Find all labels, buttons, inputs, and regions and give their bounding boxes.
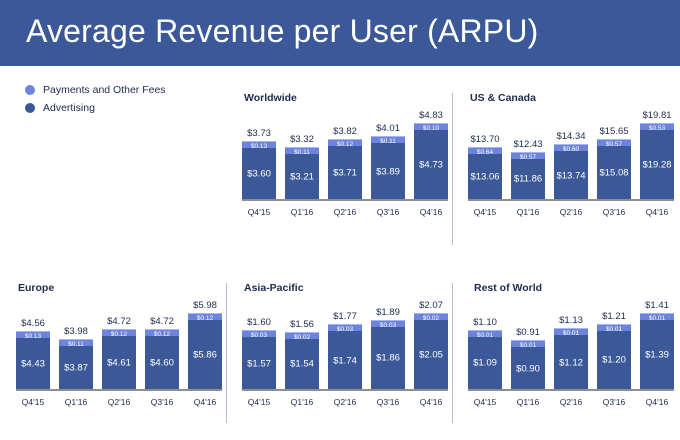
bar-segment-label: $1.86 xyxy=(371,354,405,364)
plot-area: $4.56$0.13$4.43$3.98$0.11$3.87$4.72$0.12… xyxy=(16,300,222,390)
bar-segment-advertising: $5.86 xyxy=(188,320,222,390)
bar-total-label: $3.73 xyxy=(247,128,271,139)
bar-segment-payments: $0.02 xyxy=(285,332,319,339)
bar-segment-payments: $0.11 xyxy=(59,339,93,346)
bar-segment-advertising: $2.05 xyxy=(414,320,448,390)
x-axis-tick-label: Q4'16 xyxy=(414,397,448,407)
bar-segment-advertising: $1.74 xyxy=(328,331,362,390)
axis-baseline xyxy=(468,389,674,391)
x-axis-tick-label: Q3'16 xyxy=(597,397,631,407)
bar-column: $0.91$0.01$0.90 xyxy=(511,300,545,390)
bar-segment-payments: $0.57 xyxy=(511,152,545,159)
bar-column: $3.73$0.13$3.60 xyxy=(242,110,276,200)
bar-segment-label: $3.71 xyxy=(328,168,362,178)
stacked-bar: $0.02$1.54 xyxy=(285,332,319,390)
bar-total-label: $4.72 xyxy=(107,316,131,327)
stacked-bar: $0.57$11.86 xyxy=(511,152,545,200)
x-axis-tick-label: Q4'15 xyxy=(468,397,502,407)
bar-segment-payments: $0.13 xyxy=(16,331,50,338)
circle-icon xyxy=(25,85,35,95)
bar-segment-payments: $0.12 xyxy=(102,329,136,336)
bar-segment-label: $1.74 xyxy=(328,356,362,366)
x-axis-tick-label: Q4'15 xyxy=(16,397,50,407)
bar-column: $12.43$0.57$11.86 xyxy=(511,110,545,200)
page-title: Average Revenue per User (ARPU) xyxy=(26,13,539,50)
bar-segment-label: $3.60 xyxy=(242,169,276,179)
bar-total-label: $1.41 xyxy=(645,300,669,311)
bar-segment-advertising: $4.61 xyxy=(102,336,136,390)
x-axis-tick-label: Q4'15 xyxy=(468,207,502,217)
x-axis: Q4'15Q1'16Q2'16Q3'16Q4'16 xyxy=(468,202,674,222)
bar-column: $4.83$0.10$4.73 xyxy=(414,110,448,200)
stacked-bar: $0.53$19.28 xyxy=(640,123,674,200)
x-axis-tick-label: Q2'16 xyxy=(328,397,362,407)
bar-segment-advertising: $1.86 xyxy=(371,327,405,390)
bar-column: $1.77$0.03$1.74 xyxy=(328,300,362,390)
bar-segment-payments: $0.03 xyxy=(371,320,405,327)
stacked-bar: $0.12$4.60 xyxy=(145,329,179,390)
bar-segment-payments: $0.01 xyxy=(511,340,545,347)
bar-total-label: $19.81 xyxy=(642,110,671,121)
bar-segment-advertising: $0.90 xyxy=(511,347,545,390)
bar-segment-label: $1.39 xyxy=(640,350,674,360)
bar-column: $4.56$0.13$4.43 xyxy=(16,300,50,390)
plot-area: $1.60$0.03$1.57$1.56$0.02$1.54$1.77$0.03… xyxy=(242,300,448,390)
x-axis-tick-label: Q2'16 xyxy=(102,397,136,407)
chart-panel-asia-pacific: Asia-Pacific $1.60$0.03$1.57$1.56$0.02$1… xyxy=(236,282,452,440)
bar-column: $4.72$0.12$4.60 xyxy=(145,300,179,390)
bar-segment-payments: $0.10 xyxy=(414,123,448,130)
bar-segment-advertising: $1.54 xyxy=(285,339,319,390)
bar-total-label: $4.56 xyxy=(21,318,45,329)
bar-segment-label: $1.57 xyxy=(242,359,276,369)
bar-column: $3.32$0.11$3.21 xyxy=(285,110,319,200)
bar-segment-payments: $0.64 xyxy=(468,147,502,154)
bar-column: $1.10$0.01$1.09 xyxy=(468,300,502,390)
bar-column: $13.70$0.64$13.06 xyxy=(468,110,502,200)
bar-column: $1.13$0.01$1.12 xyxy=(554,300,588,390)
bar-segment-advertising: $3.71 xyxy=(328,146,362,200)
bar-segment-advertising: $1.12 xyxy=(554,335,588,390)
x-axis-tick-label: Q4'16 xyxy=(188,397,222,407)
legend-item-advertising: Advertising xyxy=(25,100,225,115)
slide-header-band: Average Revenue per User (ARPU) xyxy=(0,0,680,66)
bar-segment-payments: $0.01 xyxy=(597,324,631,331)
bar-column: $15.65$0.57$15.08 xyxy=(597,110,631,200)
axis-baseline xyxy=(16,389,222,391)
bar-column: $3.82$0.12$3.71 xyxy=(328,110,362,200)
x-axis-tick-label: Q3'16 xyxy=(371,397,405,407)
stacked-bar: $0.12$3.71 xyxy=(328,139,362,200)
stacked-bar: $0.11$3.87 xyxy=(59,339,93,390)
x-axis-tick-label: Q2'16 xyxy=(328,207,362,217)
chart-panel-europe: Europe $4.56$0.13$4.43$3.98$0.11$3.87$4.… xyxy=(10,282,226,440)
bar-total-label: $1.21 xyxy=(602,311,626,322)
panel-title: Rest of World xyxy=(474,282,542,294)
circle-icon xyxy=(25,103,35,113)
bar-segment-label: $3.89 xyxy=(371,167,405,177)
bar-segment-payments: $0.60 xyxy=(554,144,588,151)
bar-segment-label: $0.90 xyxy=(511,364,545,374)
bar-segment-payments: $0.12 xyxy=(328,139,362,146)
chart-legend: Payments and Other Fees Advertising xyxy=(25,82,225,118)
bar-segment-label: $1.09 xyxy=(468,359,502,369)
bar-column: $3.98$0.11$3.87 xyxy=(59,300,93,390)
slide-canvas: Average Revenue per User (ARPU) Payments… xyxy=(0,0,680,434)
bar-total-label: $1.10 xyxy=(473,317,497,328)
bar-total-label: $3.98 xyxy=(64,326,88,337)
bar-segment-payments: $0.53 xyxy=(640,123,674,130)
bar-segment-advertising: $3.21 xyxy=(285,154,319,200)
stacked-bar: $0.12$4.61 xyxy=(102,329,136,390)
legend-item-payments: Payments and Other Fees xyxy=(25,82,225,97)
bar-segment-label: $1.20 xyxy=(597,356,631,366)
bar-total-label: $1.13 xyxy=(559,315,583,326)
plot-area: $3.73$0.13$3.60$3.32$0.11$3.21$3.82$0.12… xyxy=(242,110,448,200)
stacked-bar: $0.03$1.74 xyxy=(328,324,362,390)
panel-divider xyxy=(452,283,453,423)
bar-segment-payments: $0.03 xyxy=(328,324,362,331)
bar-segment-payments: $0.01 xyxy=(468,330,502,337)
bar-column: $1.89$0.03$1.86 xyxy=(371,300,405,390)
plot-area: $1.10$0.01$1.09$0.91$0.01$0.90$1.13$0.01… xyxy=(468,300,674,390)
bar-segment-payments: $0.02 xyxy=(414,313,448,320)
bar-column: $1.41$0.01$1.39 xyxy=(640,300,674,390)
stacked-bar: $0.02$2.05 xyxy=(414,313,448,390)
axis-baseline xyxy=(242,199,448,201)
bar-segment-payments: $0.57 xyxy=(597,139,631,146)
x-axis: Q4'15Q1'16Q2'16Q3'16Q4'16 xyxy=(16,392,222,412)
bar-total-label: $1.77 xyxy=(333,311,357,322)
bar-segment-advertising: $4.60 xyxy=(145,336,179,390)
legend-item-label: Advertising xyxy=(43,102,95,114)
x-axis-tick-label: Q4'16 xyxy=(414,207,448,217)
bar-segment-advertising: $13.74 xyxy=(554,151,588,200)
bar-segment-advertising: $1.57 xyxy=(242,337,276,390)
stacked-bar: $0.01$1.09 xyxy=(468,330,502,390)
bar-column: $4.01$0.11$3.89 xyxy=(371,110,405,200)
bar-total-label: $1.89 xyxy=(376,307,400,318)
stacked-bar: $0.11$3.89 xyxy=(371,136,405,200)
chart-panel-worldwide: Worldwide $3.73$0.13$3.60$3.32$0.11$3.21… xyxy=(236,92,452,250)
stacked-bar: $0.12$5.86 xyxy=(188,313,222,390)
bar-segment-advertising: $15.08 xyxy=(597,146,631,200)
bar-total-label: $5.98 xyxy=(193,300,217,311)
bar-segment-payments: $0.03 xyxy=(242,330,276,337)
stacked-bar: $0.60$13.74 xyxy=(554,144,588,200)
bar-total-label: $1.60 xyxy=(247,317,271,328)
x-axis-tick-label: Q3'16 xyxy=(145,397,179,407)
panel-title: Worldwide xyxy=(244,92,297,104)
x-axis-tick-label: Q3'16 xyxy=(597,207,631,217)
bar-total-label: $4.83 xyxy=(419,110,443,121)
stacked-bar: $0.03$1.86 xyxy=(371,320,405,390)
bar-total-label: $4.72 xyxy=(150,316,174,327)
bar-total-label: $0.91 xyxy=(516,327,540,338)
bar-total-label: $14.34 xyxy=(556,131,585,142)
chart-panel-rest-of-world: Rest of World $1.10$0.01$1.09$0.91$0.01$… xyxy=(462,282,678,440)
bar-chart: $1.10$0.01$1.09$0.91$0.01$0.90$1.13$0.01… xyxy=(468,300,674,412)
x-axis-tick-label: Q1'16 xyxy=(511,397,545,407)
x-axis-tick-label: Q4'16 xyxy=(640,207,674,217)
plot-area: $13.70$0.64$13.06$12.43$0.57$11.86$14.34… xyxy=(468,110,674,200)
axis-baseline xyxy=(468,199,674,201)
bar-segment-advertising: $19.28 xyxy=(640,130,674,200)
bar-segment-label: $1.54 xyxy=(285,360,319,370)
stacked-bar: $0.01$0.90 xyxy=(511,340,545,390)
bar-total-label: $2.07 xyxy=(419,300,443,311)
bar-segment-label: $4.73 xyxy=(414,160,448,170)
x-axis-tick-label: Q1'16 xyxy=(285,397,319,407)
bar-segment-label: $15.08 xyxy=(597,168,631,178)
bar-total-label: $3.32 xyxy=(290,134,314,145)
bar-segment-label: $19.28 xyxy=(640,160,674,170)
bar-segment-label: $13.74 xyxy=(554,171,588,181)
x-axis: Q4'15Q1'16Q2'16Q3'16Q4'16 xyxy=(242,202,448,222)
x-axis-tick-label: Q1'16 xyxy=(285,207,319,217)
bar-segment-payments: $0.11 xyxy=(371,136,405,143)
axis-baseline xyxy=(242,389,448,391)
panel-divider xyxy=(452,93,453,245)
stacked-bar: $0.01$1.39 xyxy=(640,313,674,390)
x-axis-tick-label: Q1'16 xyxy=(511,207,545,217)
bar-segment-label: $4.61 xyxy=(102,358,136,368)
x-axis-tick-label: Q1'16 xyxy=(59,397,93,407)
panel-divider xyxy=(226,283,227,423)
bar-total-label: $3.82 xyxy=(333,126,357,137)
panel-title: Europe xyxy=(18,282,54,294)
bar-segment-label: $3.21 xyxy=(285,172,319,182)
x-axis-tick-label: Q4'15 xyxy=(242,397,276,407)
bar-segment-label: $11.86 xyxy=(511,175,545,185)
bar-chart: $1.60$0.03$1.57$1.56$0.02$1.54$1.77$0.03… xyxy=(242,300,448,412)
bar-segment-payments: $0.12 xyxy=(145,329,179,336)
stacked-bar: $0.11$3.21 xyxy=(285,147,319,200)
x-axis-tick-label: Q4'16 xyxy=(640,397,674,407)
x-axis: Q4'15Q1'16Q2'16Q3'16Q4'16 xyxy=(468,392,674,412)
bar-segment-label: $13.06 xyxy=(468,172,502,182)
stacked-bar: $0.03$1.57 xyxy=(242,330,276,390)
stacked-bar: $0.01$1.12 xyxy=(554,328,588,390)
bar-column: $1.56$0.02$1.54 xyxy=(285,300,319,390)
stacked-bar: $0.57$15.08 xyxy=(597,139,631,200)
bar-column: $1.60$0.03$1.57 xyxy=(242,300,276,390)
stacked-bar: $0.13$4.43 xyxy=(16,331,50,390)
x-axis-tick-label: Q2'16 xyxy=(554,397,588,407)
bar-total-label: $13.70 xyxy=(470,134,499,145)
bar-chart: $4.56$0.13$4.43$3.98$0.11$3.87$4.72$0.12… xyxy=(16,300,222,412)
bar-segment-label: $3.87 xyxy=(59,363,93,373)
chart-panel-us-canada: US & Canada $13.70$0.64$13.06$12.43$0.57… xyxy=(462,92,678,250)
bar-segment-payments: $0.11 xyxy=(285,147,319,154)
stacked-bar: $0.64$13.06 xyxy=(468,147,502,200)
panel-title: Asia-Pacific xyxy=(244,282,304,294)
bar-segment-payments: $0.01 xyxy=(640,313,674,320)
bar-total-label: $12.43 xyxy=(513,139,542,150)
bar-segment-label: $1.12 xyxy=(554,358,588,368)
bar-segment-advertising: $1.09 xyxy=(468,337,502,390)
bar-segment-advertising: $1.20 xyxy=(597,331,631,390)
bar-column: $19.81$0.53$19.28 xyxy=(640,110,674,200)
bar-segment-advertising: $11.86 xyxy=(511,159,545,200)
stacked-bar: $0.10$4.73 xyxy=(414,123,448,200)
legend-item-label: Payments and Other Fees xyxy=(43,84,166,96)
bar-segment-payments: $0.01 xyxy=(554,328,588,335)
bar-total-label: $4.01 xyxy=(376,123,400,134)
x-axis: Q4'15Q1'16Q2'16Q3'16Q4'16 xyxy=(242,392,448,412)
bar-total-label: $15.65 xyxy=(599,126,628,137)
bar-chart: $13.70$0.64$13.06$12.43$0.57$11.86$14.34… xyxy=(468,110,674,222)
bar-segment-advertising: $1.39 xyxy=(640,320,674,390)
panel-title: US & Canada xyxy=(470,92,536,104)
x-axis-tick-label: Q2'16 xyxy=(554,207,588,217)
x-axis-tick-label: Q4'15 xyxy=(242,207,276,217)
stacked-bar: $0.01$1.20 xyxy=(597,324,631,390)
bar-total-label: $1.56 xyxy=(290,319,314,330)
bar-segment-advertising: $3.87 xyxy=(59,346,93,390)
bar-segment-payments: $0.13 xyxy=(242,141,276,148)
bar-segment-label: $5.86 xyxy=(188,350,222,360)
bar-column: $2.07$0.02$2.05 xyxy=(414,300,448,390)
stacked-bar: $0.13$3.60 xyxy=(242,141,276,200)
bar-segment-advertising: $13.06 xyxy=(468,154,502,200)
x-axis-tick-label: Q3'16 xyxy=(371,207,405,217)
bar-segment-label: $4.43 xyxy=(16,359,50,369)
bar-column: $4.72$0.12$4.61 xyxy=(102,300,136,390)
bar-segment-advertising: $4.73 xyxy=(414,130,448,200)
bar-column: $14.34$0.60$13.74 xyxy=(554,110,588,200)
bar-segment-label: $2.05 xyxy=(414,350,448,360)
bar-chart: $3.73$0.13$3.60$3.32$0.11$3.21$3.82$0.12… xyxy=(242,110,448,222)
bar-segment-advertising: $3.89 xyxy=(371,143,405,200)
bar-segment-payments: $0.12 xyxy=(188,313,222,320)
bar-column: $5.98$0.12$5.86 xyxy=(188,300,222,390)
bar-segment-advertising: $4.43 xyxy=(16,338,50,390)
bar-column: $1.21$0.01$1.20 xyxy=(597,300,631,390)
bar-segment-advertising: $3.60 xyxy=(242,148,276,200)
bar-segment-label: $4.60 xyxy=(145,358,179,368)
